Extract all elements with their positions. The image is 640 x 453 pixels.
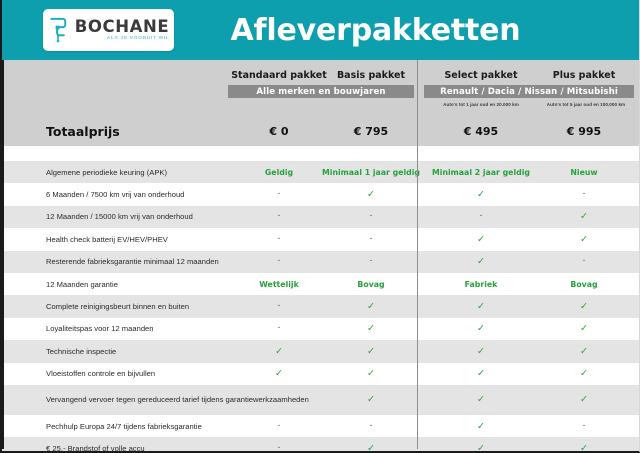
table-row: Vloeistoffen controle en bijvullen✓✓✓✓ xyxy=(2,363,639,385)
group-divider xyxy=(417,60,418,449)
cell-plus: - xyxy=(534,183,634,205)
spacer-above-rows xyxy=(2,148,639,161)
total-price-label: Totaalprijs xyxy=(46,124,120,139)
cell-standaard: Wettelijk xyxy=(224,273,334,295)
group-bar-renault: Renault / Dacia / Nissan / Mitsubishi xyxy=(424,85,634,98)
table-row: Pechhulp Europa 24/7 tijdens fabrieksgar… xyxy=(2,415,639,437)
cell-select: ✓ xyxy=(426,183,536,205)
column-note-select: Auto's tot 1 jaar oud en 20.000 km xyxy=(426,102,536,107)
cell-plus: Nieuw xyxy=(534,161,634,183)
cell-standaard: - xyxy=(224,251,334,273)
cell-select: - xyxy=(426,206,536,228)
cell-standaard: - xyxy=(224,183,334,205)
group-bar-all-brands: Alle merken en bouwjaren xyxy=(228,85,414,98)
cell-basis: ✓ xyxy=(321,183,421,205)
cell-select: ✓ xyxy=(426,437,536,453)
cell-select: ✓ xyxy=(426,363,536,385)
cell-basis: ✓ xyxy=(321,363,421,385)
cell-standaard: - xyxy=(224,415,334,437)
table-row: Resterende fabrieksgarantie minimaal 12 … xyxy=(2,251,639,273)
cell-basis: ✓ xyxy=(321,437,421,453)
column-note-plus: Auto's tot 5 jaar oud en 100.000 km xyxy=(534,102,638,107)
table-row: 6 Maanden / 7500 km vrij van onderhoud-✓… xyxy=(2,183,639,205)
cell-basis: Bovag xyxy=(321,273,421,295)
table-row: Vervangend vervoer tegen gereduceerd tar… xyxy=(2,385,639,415)
cell-select: Minimaal 2 jaar geldig xyxy=(426,161,536,183)
cell-standaard: - xyxy=(224,385,334,415)
column-title-select: Select pakket xyxy=(426,70,536,81)
table-row: 12 Maanden garantieWettelijkBovagFabriek… xyxy=(2,273,639,295)
cell-plus: ✓ xyxy=(534,206,634,228)
cell-basis: Minimaal 1 jaar geldig xyxy=(321,161,421,183)
price-select: € 495 xyxy=(426,125,536,138)
cell-basis: ✓ xyxy=(321,340,421,362)
afleverpakketten-comparison-sheet: BOCHANE ALS JE VOORUIT WIL Afleverpakket… xyxy=(0,0,640,453)
cell-plus: ✓ xyxy=(534,363,634,385)
cell-standaard: ✓ xyxy=(224,340,334,362)
cell-plus: - xyxy=(534,415,634,437)
cell-select: Fabriek xyxy=(426,273,536,295)
column-title-standaard: Standaard pakket xyxy=(224,70,334,81)
table-row: Algemene periodieke keuring (APK)GeldigM… xyxy=(2,161,639,183)
cell-plus: Bovag xyxy=(534,273,634,295)
cell-plus: ✓ xyxy=(534,340,634,362)
cell-basis: ✓ xyxy=(321,318,421,340)
price-plus: € 995 xyxy=(534,125,634,138)
cell-plus: ✓ xyxy=(534,318,634,340)
table-row: 12 Maanden / 15000 km vrij van onderhoud… xyxy=(2,206,639,228)
cell-standaard: ✓ xyxy=(224,363,334,385)
table-row: Technische inspectie✓✓✓✓ xyxy=(2,340,639,362)
cell-standaard: - xyxy=(224,228,334,250)
left-rail xyxy=(2,60,4,449)
cell-standaard: - xyxy=(224,295,334,317)
cell-select: ✓ xyxy=(426,340,536,362)
cell-plus: ✓ xyxy=(534,295,634,317)
cell-select: ✓ xyxy=(426,228,536,250)
page-header: BOCHANE ALS JE VOORUIT WIL Afleverpakket… xyxy=(2,0,639,60)
cell-select: ✓ xyxy=(426,251,536,273)
cell-standaard: - xyxy=(224,206,334,228)
table-row: € 25,- Brandstof of volle accu-✓✓✓ xyxy=(2,437,639,453)
column-header-band: Standaard pakket Basis pakket Select pak… xyxy=(2,60,639,119)
cell-standaard: - xyxy=(224,318,334,340)
cell-standaard: Geldig xyxy=(224,161,334,183)
cell-plus: ✓ xyxy=(534,385,634,415)
table-row: Health check batterij EV/HEV/PHEV--✓✓ xyxy=(2,228,639,250)
column-title-basis: Basis pakket xyxy=(321,70,421,81)
table-row: Loyaliteitspas voor 12 maanden-✓✓✓ xyxy=(2,318,639,340)
total-price-row: Totaalprijs € 0 € 795 € 495 € 995 xyxy=(2,119,639,148)
cell-basis: ✓ xyxy=(321,295,421,317)
price-basis: € 795 xyxy=(321,125,421,138)
column-title-plus: Plus pakket xyxy=(534,70,634,81)
cell-standaard: - xyxy=(224,437,334,453)
cell-basis: - xyxy=(321,228,421,250)
cell-plus: ✓ xyxy=(534,228,634,250)
cell-plus: - xyxy=(534,251,634,273)
cell-basis: - xyxy=(321,206,421,228)
cell-basis: - xyxy=(321,251,421,273)
cell-basis: - xyxy=(321,415,421,437)
page-title: Afleverpakketten xyxy=(2,13,639,48)
cell-plus: ✓ xyxy=(534,437,634,453)
table-row: Complete reinigingsbeurt binnen en buite… xyxy=(2,295,639,317)
feature-rows: Algemene periodieke keuring (APK)GeldigM… xyxy=(2,161,639,453)
cell-select: ✓ xyxy=(426,295,536,317)
cell-select: ✓ xyxy=(426,318,536,340)
cell-basis: ✓ xyxy=(321,385,421,415)
price-standaard: € 0 xyxy=(224,125,334,138)
cell-select: ✓ xyxy=(426,385,536,415)
cell-select: ✓ xyxy=(426,415,536,437)
